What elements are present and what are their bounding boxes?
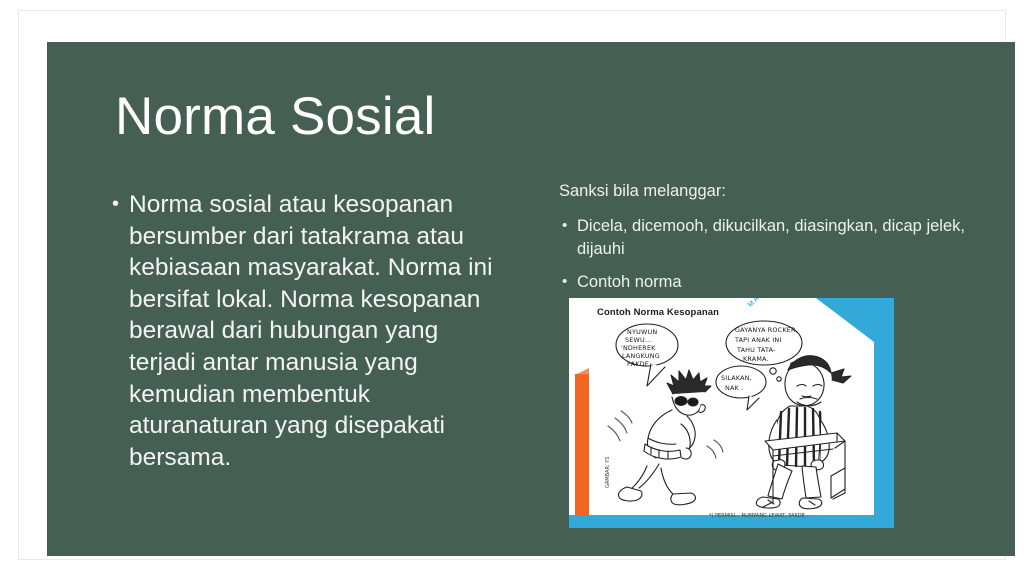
picture-caption: Contoh Norma Kesopanan bbox=[597, 307, 719, 318]
svg-text:GAMBAR: YS: GAMBAR: YS bbox=[605, 457, 611, 488]
bullet-dot-icon: • bbox=[112, 189, 119, 220]
svg-text:GAYANYA ROCKER,: GAYANYA ROCKER, bbox=[735, 326, 798, 334]
left-content-column: • Norma sosial atau kesopanan bersumber … bbox=[109, 189, 509, 473]
svg-text:SEWU...: SEWU... bbox=[625, 336, 652, 344]
svg-text:TAHU TATA-: TAHU TATA- bbox=[736, 346, 776, 354]
svg-text:KRAMA.: KRAMA. bbox=[743, 355, 769, 363]
right-content-column: Sanksi bila melanggar: • Dicela, dicemoo… bbox=[559, 181, 979, 304]
svg-text:*) PERMISI... NUMPANG LEWAT, P: *) PERMISI... NUMPANG LEWAT, PAKDE . bbox=[709, 513, 808, 519]
svg-text:LANGKUNG: LANGKUNG bbox=[622, 352, 660, 360]
cartoon-drawing: NYUWUN SEWU... 'NDHEREK LANGKUNG PAKDE .… bbox=[569, 298, 894, 528]
svg-text:PAKDE .: PAKDE . bbox=[627, 360, 653, 368]
slide-outer-background: Norma Sosial • Norma sosial atau kesopan… bbox=[0, 0, 1024, 576]
right-bullet-item-example: • Contoh norma bbox=[559, 271, 979, 293]
svg-text:'NDHEREK: 'NDHEREK bbox=[621, 344, 656, 352]
svg-text:TAPI ANAK INI: TAPI ANAK INI bbox=[734, 336, 781, 344]
bullet-dot-icon: • bbox=[562, 271, 567, 292]
slide-title: Norma Sosial bbox=[115, 87, 436, 148]
right-column-heading: Sanksi bila melanggar: bbox=[559, 181, 979, 202]
bullet-dot-icon: • bbox=[562, 215, 567, 236]
slide-canvas: Norma Sosial • Norma sosial atau kesopan… bbox=[47, 42, 1015, 556]
svg-text:NAK .: NAK . bbox=[725, 384, 743, 392]
right-bullet-text: Dicela, dicemooh, dikucilkan, diasingkan… bbox=[577, 217, 965, 257]
svg-text:NYUWUN: NYUWUN bbox=[627, 328, 657, 336]
svg-text:SILAKAN,: SILAKAN, bbox=[721, 374, 752, 382]
left-bullet-item: • Norma sosial atau kesopanan bersumber … bbox=[109, 189, 509, 473]
cartoon-illustration: Contoh Norma Kesopanan MATERI4BELAJAR.OR… bbox=[569, 298, 894, 528]
right-bullet-text: Contoh norma bbox=[577, 273, 682, 291]
slide-frame: Norma Sosial • Norma sosial atau kesopan… bbox=[18, 10, 1006, 560]
right-bullet-item-sanctions: • Dicela, dicemooh, dikucilkan, diasingk… bbox=[559, 215, 979, 260]
left-bullet-text: Norma sosial atau kesopanan bersumber da… bbox=[129, 191, 493, 471]
